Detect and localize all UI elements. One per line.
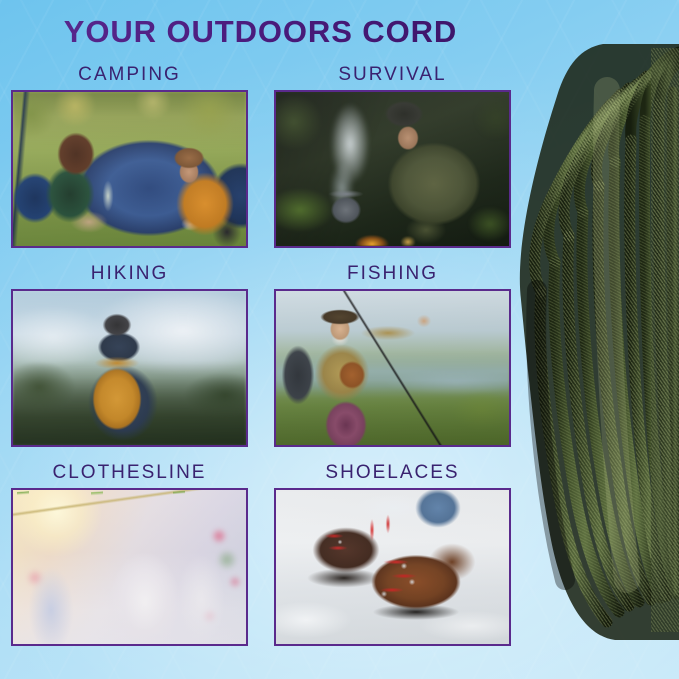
paracord-svg bbox=[511, 0, 679, 679]
use-case-label: HIKING bbox=[11, 259, 248, 289]
use-case-shoelaces[interactable]: SHOELACES bbox=[274, 458, 511, 646]
use-case-photo-shoelaces bbox=[274, 488, 511, 646]
use-case-survival[interactable]: SURVIVAL bbox=[274, 60, 511, 248]
product-infographic: YOUR OUTDOORS CORD CAMPING SURVIVAL bbox=[0, 0, 679, 679]
backpack-icon bbox=[13, 291, 246, 445]
use-case-fishing[interactable]: FISHING bbox=[274, 259, 511, 447]
use-case-label: SHOELACES bbox=[274, 458, 511, 488]
paracord-hank-image bbox=[511, 0, 679, 679]
use-case-photo-clothesline bbox=[11, 488, 248, 646]
use-case-label: FISHING bbox=[274, 259, 511, 289]
use-case-row: HIKING FISHING bbox=[11, 259, 511, 447]
use-case-grid: CAMPING SURVIVAL bbox=[11, 60, 511, 657]
use-case-photo-fishing bbox=[274, 289, 511, 447]
use-case-label: SURVIVAL bbox=[274, 60, 511, 90]
cord-strands bbox=[520, 44, 679, 640]
use-case-row: CAMPING SURVIVAL bbox=[11, 60, 511, 248]
fishing-rod-icon bbox=[276, 291, 509, 445]
use-case-photo-survival bbox=[274, 90, 511, 248]
use-case-row: CLOTHESLINE SHOELACES bbox=[11, 458, 511, 646]
use-case-hiking[interactable]: HIKING bbox=[11, 259, 248, 447]
use-case-photo-camping bbox=[11, 90, 248, 248]
campfire-icon bbox=[276, 92, 509, 246]
use-case-photo-hiking bbox=[11, 289, 248, 447]
use-case-label: CLOTHESLINE bbox=[11, 458, 248, 488]
use-case-camping[interactable]: CAMPING bbox=[11, 60, 248, 248]
red-shoelaces bbox=[276, 490, 509, 644]
page-title: YOUR OUTDOORS CORD bbox=[0, 14, 521, 50]
use-case-clothesline[interactable]: CLOTHESLINE bbox=[11, 458, 248, 646]
clothespin-icon bbox=[13, 490, 246, 644]
person-man-figure bbox=[13, 92, 246, 246]
use-case-label: CAMPING bbox=[11, 60, 248, 90]
